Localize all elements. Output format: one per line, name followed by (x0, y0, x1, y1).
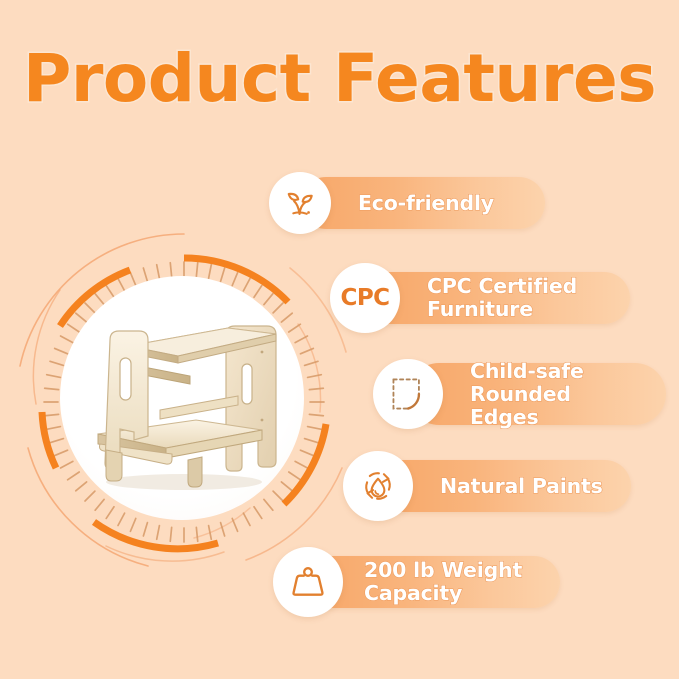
feature-pill-cpc-certified[interactable]: CPC CPC Certified Furniture (365, 272, 630, 324)
feature-label: Child-safe Rounded Edges (470, 360, 640, 429)
rounded-corner-icon-badge (373, 359, 443, 429)
cpc-text-icon-badge: CPC (330, 263, 400, 333)
feature-label: Eco-friendly (358, 192, 494, 215)
product-photo-disc (60, 276, 304, 520)
weight-icon-badge (273, 547, 343, 617)
cpc-text-icon: CPC (340, 285, 389, 311)
infographic-canvas: Product Features (0, 0, 679, 679)
feature-label: CPC Certified Furniture (427, 275, 604, 321)
page-title: Product Features (0, 42, 679, 116)
feature-pill-rounded-edges[interactable]: Child-safe Rounded Edges (408, 363, 666, 425)
water-droplet-recycle-icon (358, 466, 398, 506)
sprout-icon (282, 185, 318, 221)
product-image-circle (36, 252, 328, 544)
wooden-step-stool-illustration (76, 300, 288, 496)
sprout-icon-badge (269, 172, 331, 234)
feature-pill-eco-friendly[interactable]: Eco-friendly (300, 177, 545, 229)
feature-pill-weight-capacity[interactable]: 200 lb Weight Capacity (308, 556, 560, 608)
feature-label: Natural Paints (440, 475, 603, 498)
water-droplet-recycle-icon-badge (343, 451, 413, 521)
rounded-corner-icon (388, 374, 428, 414)
feature-pill-natural-paints[interactable]: Natural Paints (378, 460, 631, 512)
weight-icon (288, 562, 328, 602)
feature-label: 200 lb Weight Capacity (364, 559, 534, 605)
